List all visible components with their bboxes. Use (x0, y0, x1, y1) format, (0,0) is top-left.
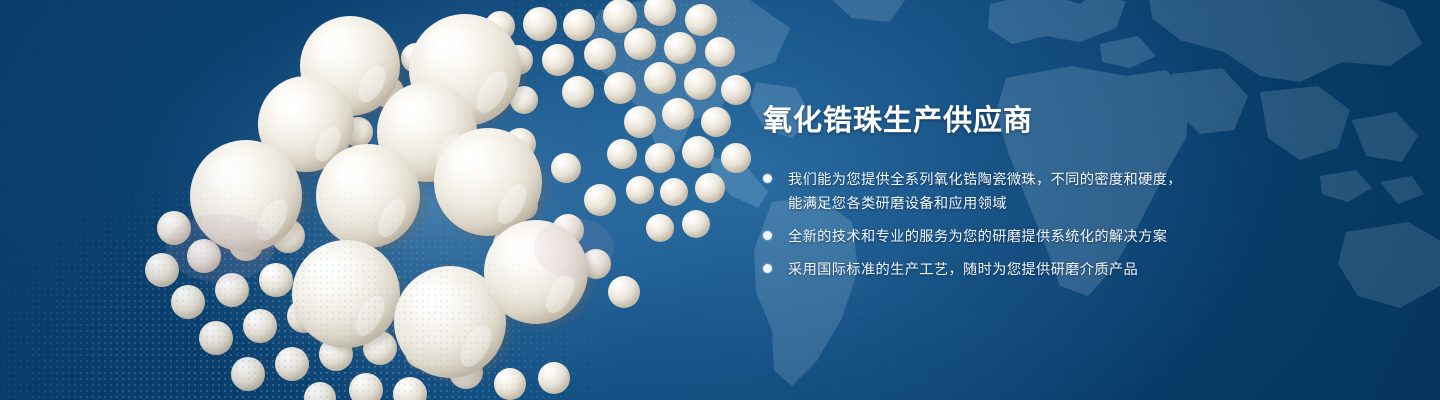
list-item: 采用国际标准的生产工艺，随时为您提供研磨介质产品 (763, 258, 1233, 282)
bullet-dot-icon (763, 264, 772, 273)
list-item: 全新的技术和专业的服务为您的研磨提供系统化的解决方案 (763, 225, 1233, 249)
list-item: 我们能为您提供全系列氧化锆陶瓷微珠，不同的密度和硬度， 能满足您各类研磨设备和应… (763, 168, 1233, 216)
feature-text: 全新的技术和专业的服务为您的研磨提供系统化的解决方案 (788, 225, 1167, 249)
hero-banner: 氧化锆珠生产供应商 我们能为您提供全系列氧化锆陶瓷微珠，不同的密度和硬度， 能满… (0, 0, 1440, 400)
feature-text: 采用国际标准的生产工艺，随时为您提供研磨介质产品 (788, 258, 1138, 282)
page-title: 氧化锆珠生产供应商 (763, 104, 1233, 139)
banner-copy: 氧化锆珠生产供应商 我们能为您提供全系列氧化锆陶瓷微珠，不同的密度和硬度， 能满… (763, 104, 1233, 282)
bullet-dot-icon (763, 231, 772, 240)
feature-list: 我们能为您提供全系列氧化锆陶瓷微珠，不同的密度和硬度， 能满足您各类研磨设备和应… (763, 168, 1233, 282)
feature-text: 我们能为您提供全系列氧化锆陶瓷微珠，不同的密度和硬度， 能满足您各类研磨设备和应… (788, 168, 1182, 216)
bullet-dot-icon (763, 174, 772, 183)
